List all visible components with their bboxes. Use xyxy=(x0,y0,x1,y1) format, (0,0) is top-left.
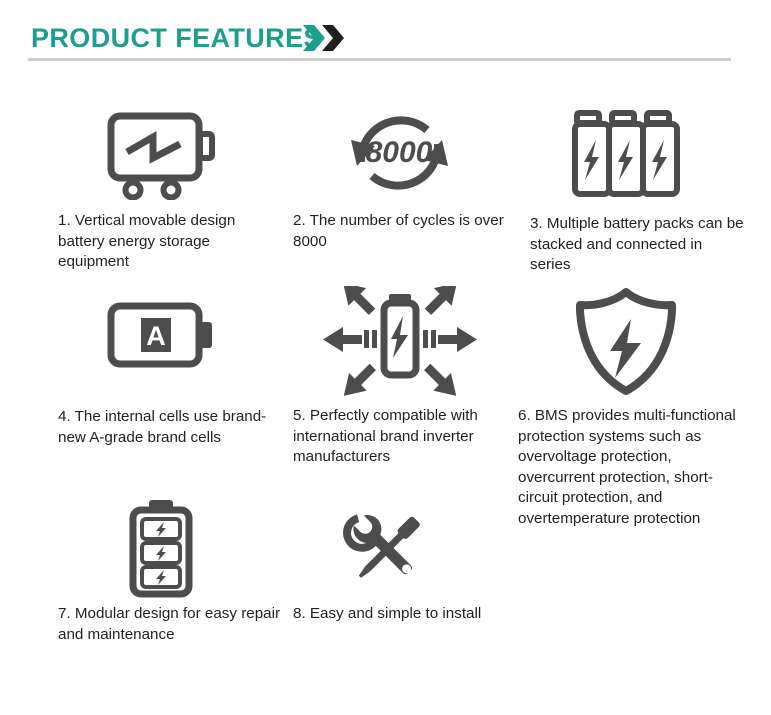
page-header: PRODUCT FEATURES xyxy=(0,0,771,72)
shield-bolt-icon xyxy=(571,286,681,398)
a-grade-label: A xyxy=(146,321,166,351)
feature-label-5: 5. Perfectly compatible with internation… xyxy=(293,406,507,468)
chevron-right-black-icon xyxy=(322,25,344,51)
cycle-arrows-8000-icon: 8000 xyxy=(337,100,462,205)
feature-label-7: 7. Modular design for easy repair and ma… xyxy=(58,604,282,645)
three-stacked-batteries-icon xyxy=(571,110,696,200)
header-divider xyxy=(28,58,731,61)
cycle-count-label: 8000 xyxy=(366,136,433,169)
modular-battery-cells-icon xyxy=(115,498,205,598)
battery-compatibility-arrows-icon xyxy=(315,286,485,398)
a-grade-battery-icon: A xyxy=(105,300,217,372)
feature-label-1: 1. Vertical movable design battery energ… xyxy=(58,211,282,273)
movable-battery-cart-icon xyxy=(105,110,217,200)
feature-label-4: 4. The internal cells use brand-new A-gr… xyxy=(58,407,282,448)
feature-label-3: 3. Multiple battery packs can be stacked… xyxy=(530,214,744,276)
page-title: PRODUCT FEATURES xyxy=(31,22,322,54)
feature-label-6: 6. BMS provides multi-functional protect… xyxy=(518,406,750,529)
chevron-right-teal-icon xyxy=(303,25,325,51)
wrench-screwdriver-icon xyxy=(335,498,435,598)
feature-label-8: 8. Easy and simple to install xyxy=(293,604,481,625)
header-chevron-group xyxy=(303,25,347,51)
feature-label-2: 2. The number of cycles is over 8000 xyxy=(293,211,507,252)
